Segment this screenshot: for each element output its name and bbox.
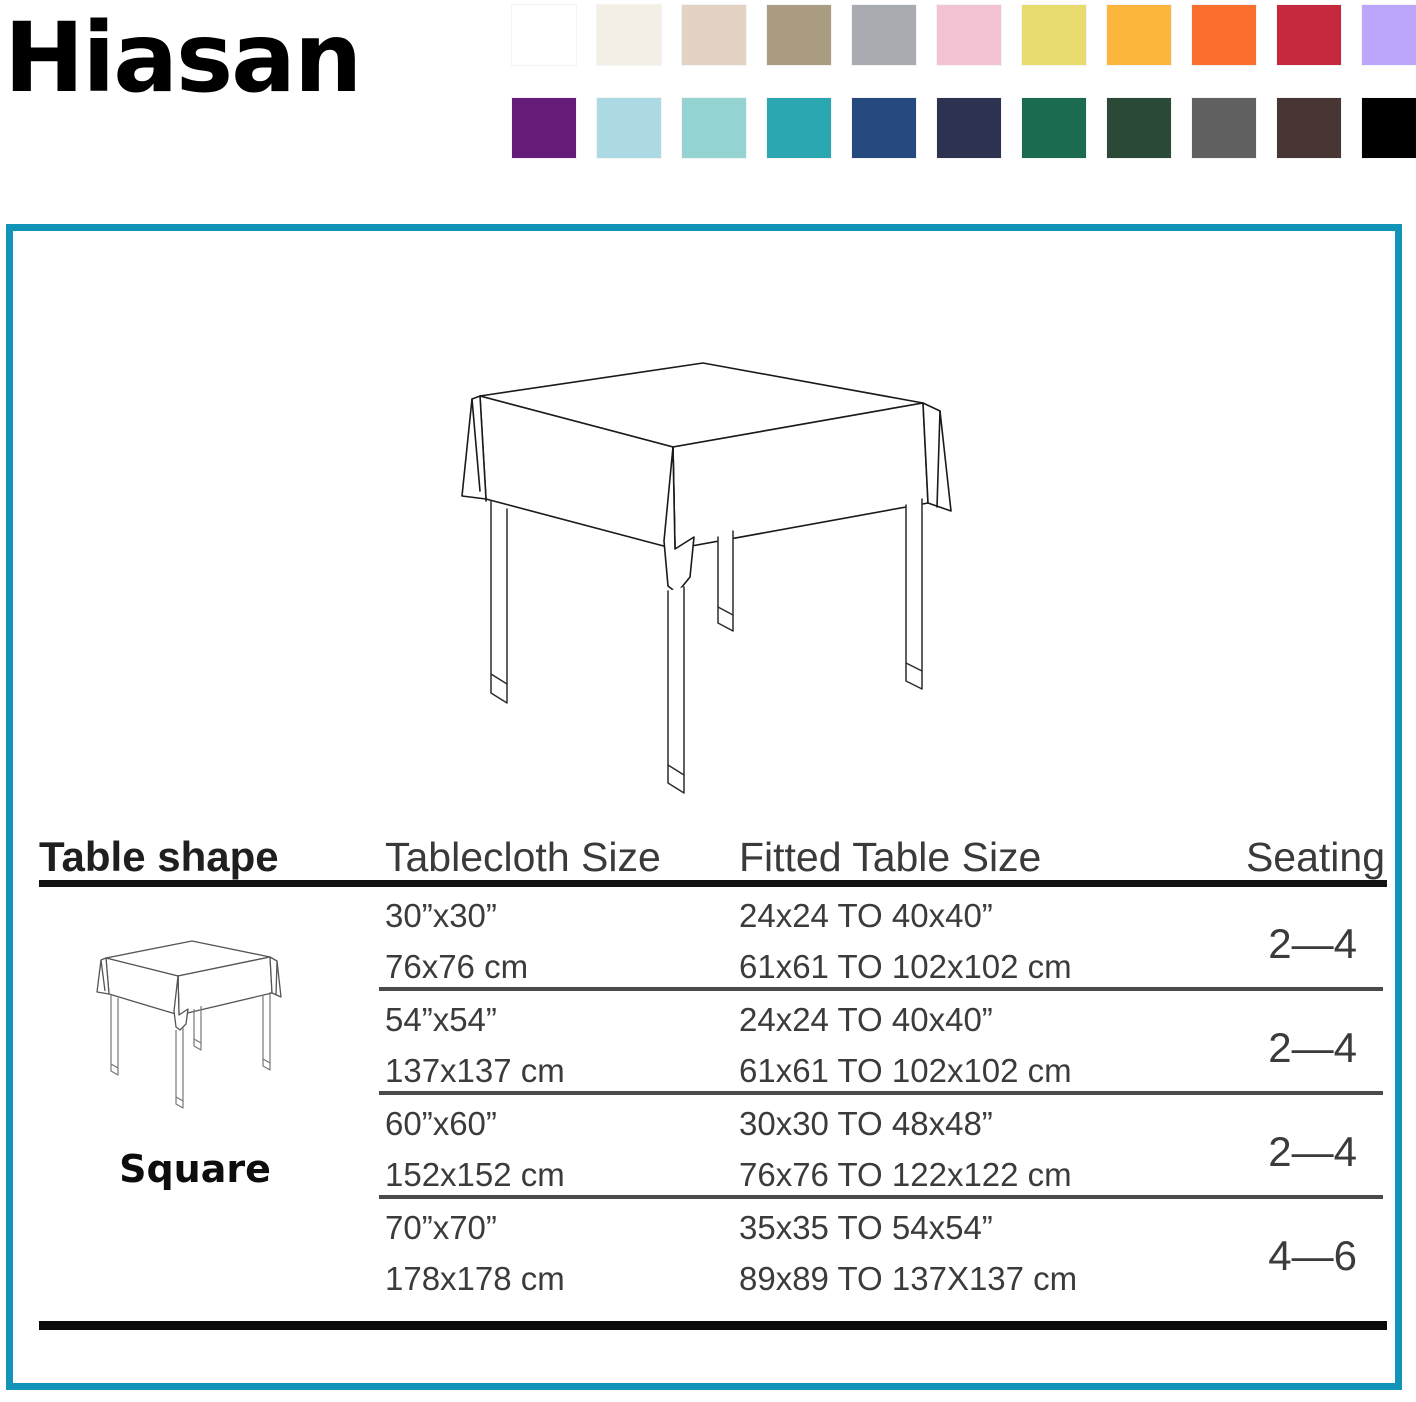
swatch-row-light <box>512 5 1416 65</box>
size-comparison-table: Table shape Tablecloth Size Fitted Table… <box>35 814 1387 1330</box>
cell-fitted-inches: 24x24 TO 40x40” <box>739 899 993 932</box>
cell-fitted-inches: 30x30 TO 48x48” <box>739 1107 993 1140</box>
color-swatch-dark-navy[interactable] <box>937 98 1001 158</box>
color-swatch-beige[interactable] <box>682 5 746 65</box>
column-header-fitted-table-size: Fitted Table Size <box>739 837 1041 878</box>
color-swatch-dark-brown[interactable] <box>1277 98 1341 158</box>
cell-cloth-inches: 54”x54” <box>385 1003 497 1036</box>
cell-cloth-inches: 30”x30” <box>385 899 497 932</box>
color-swatch-black[interactable] <box>1362 98 1416 158</box>
color-swatch-lavender[interactable] <box>1362 5 1416 65</box>
table-header-row: Table shape Tablecloth Size Fitted Table… <box>35 814 1387 880</box>
column-header-tablecloth-size: Tablecloth Size <box>385 837 661 878</box>
table-row: 54”x54” 137x137 cm 24x24 TO 40x40” 61x61… <box>35 991 1387 1091</box>
cell-cloth-cm: 178x178 cm <box>385 1262 565 1295</box>
color-swatch-emerald[interactable] <box>1022 98 1086 158</box>
color-swatch-purple[interactable] <box>512 98 576 158</box>
table-bottom-divider <box>39 1321 1387 1330</box>
brand-logo: Hiasan <box>4 10 360 106</box>
cell-seating: 2—4 <box>1268 923 1357 965</box>
color-swatch-aqua[interactable] <box>682 98 746 158</box>
color-swatch-gray[interactable] <box>852 5 916 65</box>
column-header-table-shape: Table shape <box>39 836 279 878</box>
table-row: 70”x70” 178x178 cm 35x35 TO 54x54” 89x89… <box>35 1199 1387 1299</box>
cell-cloth-inches: 70”x70” <box>385 1211 497 1244</box>
color-swatch-navy-blue[interactable] <box>852 98 916 158</box>
cell-cloth-cm: 152x152 cm <box>385 1158 565 1191</box>
cell-fitted-inches: 24x24 TO 40x40” <box>739 1003 993 1036</box>
color-swatch-white[interactable] <box>512 5 576 65</box>
size-guide-panel: Square Table shape Tablecloth Size Fitte… <box>6 224 1402 1390</box>
color-swatch-yellow[interactable] <box>1022 5 1086 65</box>
color-swatch-ivory[interactable] <box>597 5 661 65</box>
cell-cloth-inches: 60”x60” <box>385 1107 497 1140</box>
swatch-row-dark <box>512 98 1416 158</box>
color-swatch-red[interactable] <box>1277 5 1341 65</box>
color-swatch-light-blue[interactable] <box>597 98 661 158</box>
color-swatch-pink[interactable] <box>937 5 1001 65</box>
cell-seating: 2—4 <box>1268 1131 1357 1173</box>
color-swatch-grid <box>512 5 1416 191</box>
color-swatch-taupe[interactable] <box>767 5 831 65</box>
color-swatch-teal[interactable] <box>767 98 831 158</box>
color-swatch-gold[interactable] <box>1107 5 1171 65</box>
cell-fitted-cm: 61x61 TO 102x102 cm <box>739 950 1072 983</box>
cell-seating: 2—4 <box>1268 1027 1357 1069</box>
cell-fitted-cm: 76x76 TO 122x122 cm <box>739 1158 1072 1191</box>
square-tablecloth-illustration <box>428 341 978 801</box>
cell-fitted-cm: 61x61 TO 102x102 cm <box>739 1054 1072 1087</box>
header-divider <box>39 880 1387 887</box>
cell-cloth-cm: 76x76 cm <box>385 950 528 983</box>
column-header-seating: Seating <box>1246 837 1385 878</box>
cell-seating: 4—6 <box>1268 1235 1357 1277</box>
cell-cloth-cm: 137x137 cm <box>385 1054 565 1087</box>
table-row: 30”x30” 76x76 cm 24x24 TO 40x40” 61x61 T… <box>35 887 1387 987</box>
cell-fitted-inches: 35x35 TO 54x54” <box>739 1211 993 1244</box>
table-row: 60”x60” 152x152 cm 30x30 TO 48x48” 76x76… <box>35 1095 1387 1195</box>
color-swatch-forest-green[interactable] <box>1107 98 1171 158</box>
cell-fitted-cm: 89x89 TO 137X137 cm <box>739 1262 1077 1295</box>
color-swatch-dark-gray[interactable] <box>1192 98 1256 158</box>
color-swatch-orange[interactable] <box>1192 5 1256 65</box>
